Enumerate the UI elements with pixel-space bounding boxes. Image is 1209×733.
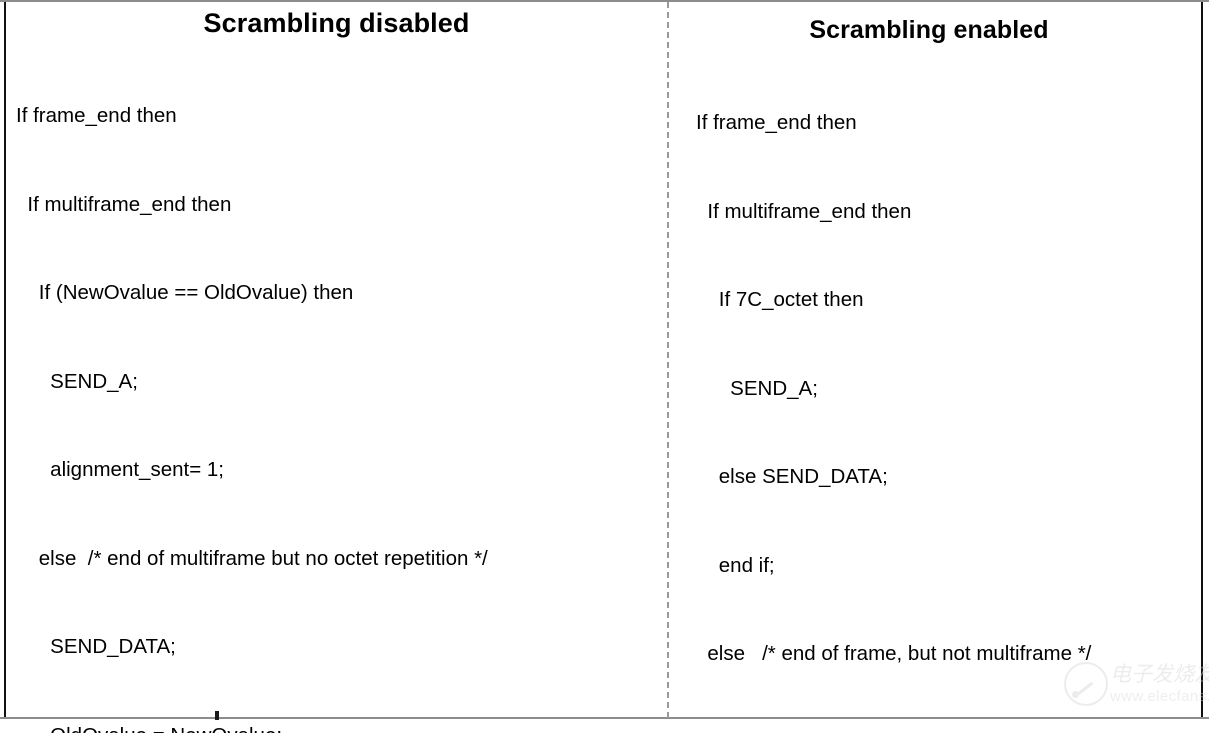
- figure-top-border: [0, 0, 1209, 2]
- figure-left-border: [4, 2, 6, 718]
- code-line: else SEND_DATA;: [696, 462, 1091, 492]
- left-panel-heading: Scrambling disabled: [6, 7, 667, 39]
- code-line: If frame_end then: [16, 101, 537, 131]
- code-line: else /* end of frame, but not multiframe…: [696, 639, 1091, 669]
- code-line: If frame_end then: [696, 108, 1091, 138]
- code-line: If (NewOvalue == OldOvalue) then: [16, 278, 537, 308]
- code-line: If multiframe_end then: [696, 197, 1091, 227]
- code-line: SEND_DATA;: [16, 632, 537, 662]
- right-panel-pseudocode-block: If frame_end then If multiframe_end then…: [696, 49, 1091, 733]
- code-line: SEND_A;: [696, 374, 1091, 404]
- code-line: alignment_sent= 1;: [16, 455, 537, 485]
- code-line: end if;: [696, 551, 1091, 581]
- column-divider-dashed-line: [667, 2, 669, 718]
- watermark-chinese-text: 电子发烧友: [1110, 662, 1209, 686]
- watermark-url-text: www.elecfans.com: [1110, 688, 1209, 706]
- left-panel-pseudocode-block: If frame_end then If multiframe_end then…: [16, 42, 537, 733]
- pseudocode-comparison-figure: Scrambling disabled If frame_end then If…: [0, 0, 1209, 733]
- code-line: If multiframe_end then: [16, 190, 537, 220]
- code-line: else /* end of multiframe but no octet r…: [16, 544, 537, 574]
- code-line: if FC_octet then: [696, 728, 1091, 733]
- code-line: SEND_A;: [16, 367, 537, 397]
- figure-right-border: [1201, 2, 1203, 718]
- code-line: If 7C_octet then: [696, 285, 1091, 315]
- right-panel-heading: Scrambling enabled: [671, 15, 1187, 45]
- code-line: OldOvalue = NewOvalue;: [16, 721, 537, 733]
